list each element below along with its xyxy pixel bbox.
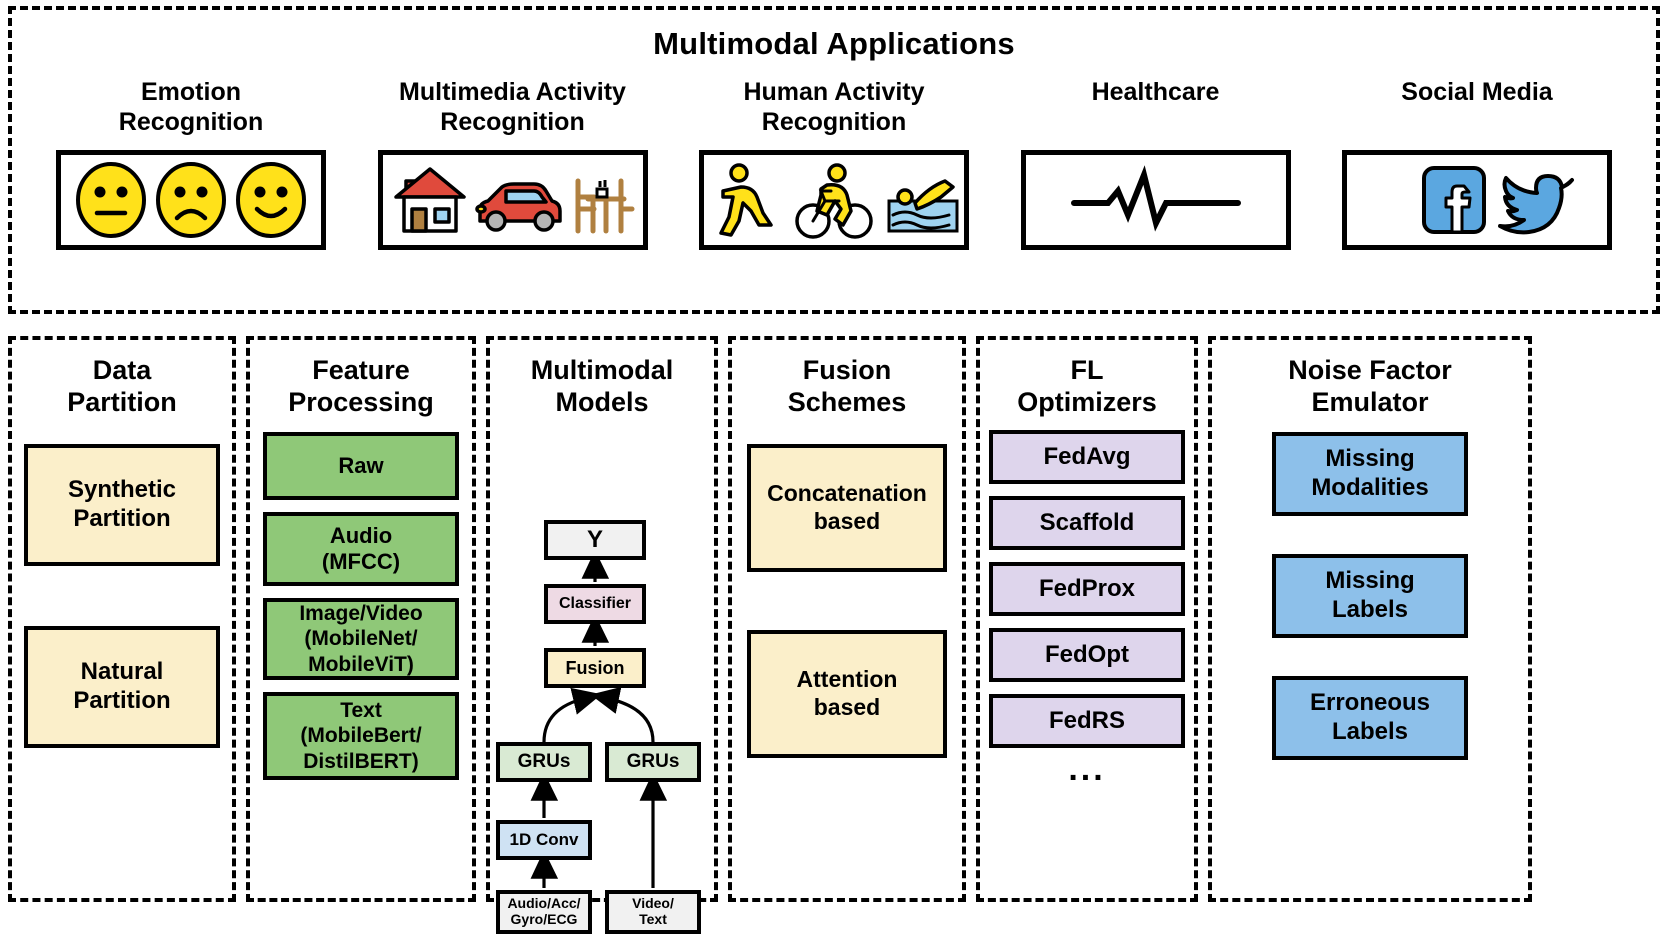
cycling-person-icon	[797, 165, 871, 237]
application-icon-box	[1342, 150, 1612, 250]
item-label: FedRS	[1049, 707, 1125, 736]
item-label: FedOpt	[1045, 641, 1129, 670]
application-label-line1: Social Media	[1401, 78, 1552, 106]
feature-item-text[interactable]: Text (MobileBert/ DistilBERT)	[263, 692, 459, 780]
column-fl-optimizers: FL Optimizers FedAvg Scaffold FedProx Fe…	[976, 336, 1198, 902]
item-label-line2: Modalities	[1311, 474, 1428, 501]
application-label: Emotion Recognition	[119, 78, 263, 140]
sad-face-icon	[158, 164, 224, 236]
column-title-line1: Fusion	[803, 355, 892, 385]
house-icon	[396, 169, 464, 231]
application-label-line1: Human Activity	[743, 78, 924, 106]
twitter-icon	[1500, 176, 1572, 232]
pipeline-columns: Data Partition Synthetic Partition Natur…	[8, 336, 1660, 902]
item-label-line3: MobileViT)	[308, 653, 414, 676]
data-partition-item-synthetic[interactable]: Synthetic Partition	[24, 444, 220, 566]
feature-item-image-video[interactable]: Image/Video (MobileNet/ MobileViT)	[263, 598, 459, 680]
column-title: Multimodal Models	[531, 354, 674, 422]
node-label: Audio/Acc/ Gyro/ECG	[507, 896, 580, 927]
node-label: GRUs	[518, 751, 571, 772]
item-label: Concatenation based	[767, 480, 927, 535]
item-label: Image/Video (MobileNet/ MobileViT)	[299, 601, 422, 677]
fusion-item-attention-based[interactable]: Attention based	[747, 630, 947, 758]
application-label-line1: Multimedia Activity	[399, 78, 626, 106]
column-title-line2: Partition	[67, 387, 177, 417]
heartbeat-ecg-icon	[1056, 165, 1256, 235]
page-title: Multimodal Applications	[12, 26, 1656, 62]
multimedia-icon-group	[388, 159, 638, 241]
column-title-line2: Models	[555, 387, 648, 417]
item-label-line1: Erroneous	[1310, 689, 1430, 716]
application-icon-box	[56, 150, 326, 250]
emotion-faces-icon-group	[71, 159, 311, 241]
item-label: Raw	[338, 453, 383, 479]
model-node-input-right[interactable]: Video/ Text	[605, 890, 701, 934]
fl-optimizer-item-fedavg[interactable]: FedAvg	[989, 430, 1185, 484]
neutral-face-icon	[78, 164, 144, 236]
column-title-line2: Processing	[288, 387, 434, 417]
happy-face-icon	[238, 164, 304, 236]
walking-person-icon	[721, 165, 771, 235]
node-label: Y	[587, 527, 603, 554]
noise-item-erroneous-labels[interactable]: Erroneous Labels	[1272, 676, 1468, 760]
column-title-line2: Optimizers	[1017, 387, 1157, 417]
application-label: Social Media	[1401, 78, 1552, 140]
column-title: Feature Processing	[288, 354, 434, 422]
car-icon	[477, 184, 560, 230]
application-emotion-recognition: Emotion Recognition	[44, 78, 338, 250]
facebook-icon	[1424, 168, 1484, 232]
item-label-line1: Audio	[330, 523, 392, 548]
node-label-line2: Gyro/ECG	[511, 911, 578, 927]
node-label: GRUs	[627, 751, 680, 772]
feature-item-audio[interactable]: Audio (MFCC)	[263, 512, 459, 586]
item-label-line2: (MFCC)	[322, 549, 400, 574]
item-label-line2: Labels	[1332, 718, 1408, 745]
node-label: 1D Conv	[510, 830, 579, 849]
application-icon-box	[699, 150, 969, 250]
noise-item-missing-labels[interactable]: Missing Labels	[1272, 554, 1468, 638]
column-title-line1: Feature	[312, 355, 410, 385]
item-label: Text (MobileBert/ DistilBERT)	[300, 698, 421, 774]
table-item-icon	[597, 180, 607, 197]
column-fusion-schemes: Fusion Schemes Concatenation based Atten…	[728, 336, 966, 902]
item-label-line2: Partition	[73, 687, 170, 714]
model-architecture-diagram: Y Classifier Fusion GRUs GRUs 1D Conv Au…	[486, 422, 718, 898]
application-label-line2: Recognition	[762, 108, 906, 136]
column-title-line1: FL	[1070, 355, 1103, 385]
item-label: Erroneous Labels	[1310, 689, 1430, 747]
fl-optimizer-item-fedprox[interactable]: FedProx	[989, 562, 1185, 616]
column-title: Fusion Schemes	[788, 354, 907, 422]
column-title-line1: Multimodal	[531, 355, 674, 385]
application-multimedia-activity-recognition: Multimedia Activity Recognition	[366, 78, 660, 250]
node-label: Classifier	[559, 595, 631, 613]
node-label-line1: Audio/Acc/	[507, 895, 580, 911]
data-partition-item-natural[interactable]: Natural Partition	[24, 626, 220, 748]
node-label: Fusion	[566, 658, 625, 678]
fl-optimizer-more-ellipsis: ...	[1068, 758, 1105, 782]
applications-row: Emotion Recognition	[12, 78, 1656, 250]
item-label: Missing Modalities	[1311, 445, 1428, 503]
node-label-line2: Text	[639, 911, 667, 927]
application-human-activity-recognition: Human Activity Recognition	[687, 78, 981, 250]
item-label: Attention based	[797, 666, 898, 721]
fl-optimizer-item-scaffold[interactable]: Scaffold	[989, 496, 1185, 550]
application-label: Multimedia Activity Recognition	[399, 78, 626, 140]
item-label: Scaffold	[1040, 509, 1135, 538]
model-node-output[interactable]: Y	[544, 520, 646, 560]
model-node-fusion[interactable]: Fusion	[544, 648, 646, 688]
model-node-gru-right[interactable]: GRUs	[605, 742, 701, 782]
application-icon-box	[1021, 150, 1291, 250]
item-label-line1: Attention	[797, 666, 898, 692]
model-node-gru-left[interactable]: GRUs	[496, 742, 592, 782]
item-label: Synthetic Partition	[68, 476, 176, 534]
item-label-line1: Text	[340, 699, 382, 722]
item-label-line1: Raw	[338, 453, 383, 478]
column-title-line1: Noise Factor	[1288, 355, 1452, 385]
column-title-line1: Data	[93, 355, 152, 385]
feature-item-raw[interactable]: Raw	[263, 432, 459, 500]
column-feature-processing: Feature Processing Raw Audio (MFCC) Imag…	[246, 336, 476, 902]
item-label-line1: Synthetic	[68, 476, 176, 503]
multimodal-applications-panel: Multimodal Applications Emotion Recognit…	[8, 6, 1660, 314]
column-title-line2: Schemes	[788, 387, 907, 417]
social-media-icon-group	[1372, 162, 1582, 238]
fl-optimizer-item-fedrs[interactable]: FedRS	[989, 694, 1185, 748]
application-label: Human Activity Recognition	[743, 78, 924, 140]
node-label: Video/ Text	[632, 896, 674, 927]
column-title: Noise Factor Emulator	[1288, 354, 1452, 422]
application-label: Healthcare	[1092, 78, 1220, 140]
model-node-classifier[interactable]: Classifier	[544, 584, 646, 624]
item-label-line2: based	[814, 694, 880, 720]
item-label-line1: Concatenation	[767, 480, 927, 506]
column-title-line2: Emulator	[1311, 387, 1428, 417]
noise-item-missing-modalities[interactable]: Missing Modalities	[1272, 432, 1468, 516]
item-label-line2: Labels	[1332, 596, 1408, 623]
item-label: FedProx	[1039, 575, 1135, 604]
item-label-line1: Natural	[81, 658, 164, 685]
item-label-line2: (MobileNet/	[304, 627, 417, 650]
item-label-line2: (MobileBert/	[300, 724, 421, 747]
application-social-media: Social Media	[1330, 78, 1624, 250]
item-label: FedAvg	[1043, 443, 1130, 472]
column-noise-factor-emulator: Noise Factor Emulator Missing Modalities…	[1208, 336, 1532, 902]
application-icon-box	[378, 150, 648, 250]
application-label-line2: Recognition	[119, 108, 263, 136]
column-multimodal-models: Multimodal Models	[486, 336, 718, 902]
item-label-line2: based	[814, 508, 880, 534]
application-label-line2: Recognition	[440, 108, 584, 136]
model-node-input-left[interactable]: Audio/Acc/ Gyro/ECG	[496, 890, 592, 934]
item-label-line3: DistilBERT)	[303, 750, 419, 773]
column-title: Data Partition	[67, 354, 177, 422]
item-label: Natural Partition	[73, 658, 170, 716]
item-label-line1: Image/Video	[299, 602, 422, 625]
application-healthcare: Healthcare	[1009, 78, 1303, 250]
item-label-line2: Partition	[73, 505, 170, 532]
node-label-line1: Video/	[632, 895, 674, 911]
application-label-line1: Emotion	[141, 78, 241, 106]
column-title: FL Optimizers	[1017, 354, 1157, 422]
item-label-line1: Missing	[1325, 445, 1414, 472]
human-activity-icon-group	[709, 159, 959, 241]
swimming-person-icon	[889, 181, 957, 231]
item-label: Missing Labels	[1325, 567, 1414, 625]
item-label-line1: Missing	[1325, 567, 1414, 594]
column-data-partition: Data Partition Synthetic Partition Natur…	[8, 336, 236, 902]
application-label-line1: Healthcare	[1092, 78, 1220, 106]
item-label: Audio (MFCC)	[322, 523, 400, 576]
model-node-1d-conv[interactable]: 1D Conv	[496, 820, 592, 860]
fusion-item-concatenation-based[interactable]: Concatenation based	[747, 444, 947, 572]
fl-optimizer-item-fedopt[interactable]: FedOpt	[989, 628, 1185, 682]
